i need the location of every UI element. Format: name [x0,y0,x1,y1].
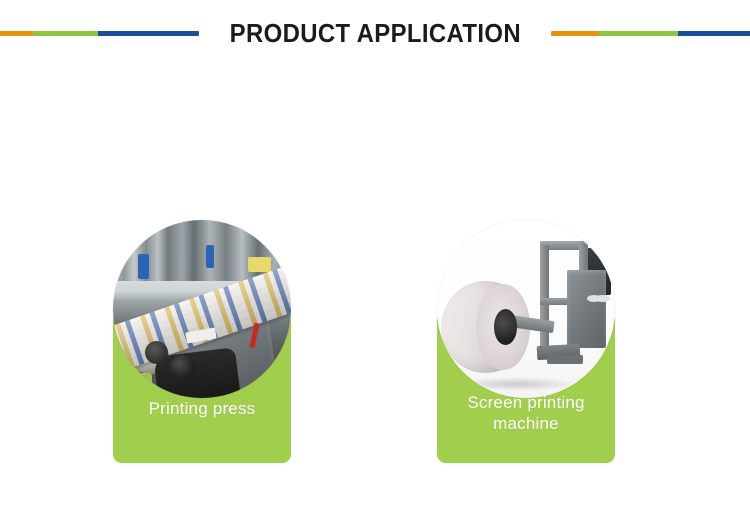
card-caption-screen-printing-machine: Screen printing machine [437,392,615,434]
machine-control-cabinet [567,270,606,348]
card-caption-line: machine [437,413,615,434]
machine-roll-core [494,309,517,345]
card-caption-line: Screen printing [437,392,615,413]
press-blue-crate-2 [206,245,215,268]
machine-control-button-2 [595,295,609,302]
card-caption-printing-press: Printing press [113,398,291,419]
printing-press-photo-inner [113,220,291,398]
machine-base-foot [547,355,583,364]
press-drive-knob [170,355,195,380]
application-card-list: Printing press [0,0,750,526]
press-blue-crate-1 [138,254,149,279]
card-caption-line: Printing press [113,398,291,419]
screen-printing-machine-photo [437,220,615,398]
screen-printing-machine-photo-inner [437,220,615,398]
press-green-floor-mat [113,373,152,398]
machine-ground-shadow [455,377,580,391]
printing-press-photo [113,220,291,398]
press-yellow-box [248,257,271,271]
